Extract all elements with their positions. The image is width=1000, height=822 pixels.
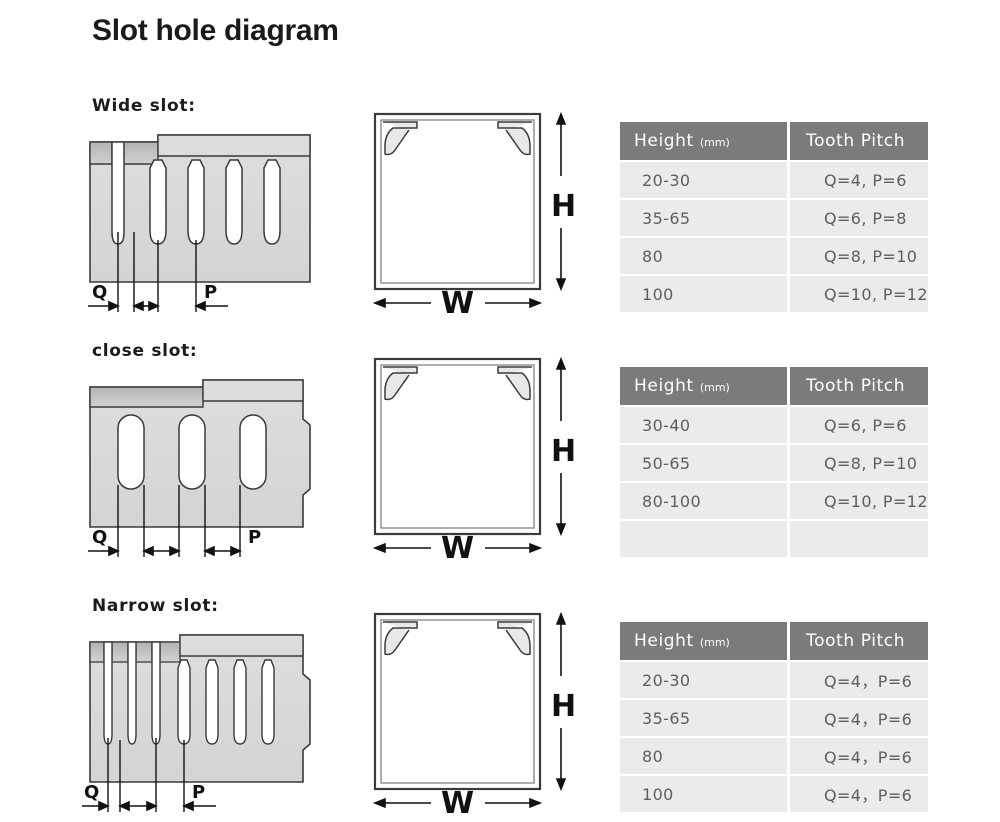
- close-slot-p-label: P: [248, 527, 261, 548]
- cell-height: 30-40: [620, 407, 790, 443]
- header-tooth-pitch: Tooth Pitch: [790, 622, 928, 660]
- cell-height: 100: [620, 776, 790, 812]
- cell-pitch: Q=4，P=6: [790, 662, 928, 698]
- narrow-slot-cross-section: H W: [365, 604, 580, 814]
- wide-slot-cross-section: H W: [365, 104, 580, 314]
- wide-slot-p-label: P: [204, 282, 217, 303]
- cell-height: 80-100: [620, 483, 790, 519]
- page-title: Slot hole diagram: [92, 14, 339, 48]
- table-row: 50-65 Q=8, P=10: [620, 445, 928, 481]
- height-label: H: [551, 434, 576, 469]
- cell-pitch: Q=10, P=12: [790, 276, 928, 312]
- width-label: W: [441, 786, 474, 814]
- wide-slot-q-label: Q: [92, 282, 107, 303]
- close-slot-q-label: Q: [92, 527, 107, 548]
- header-height-unit: (mm): [700, 636, 730, 649]
- section-label-wide: Wide slot:: [92, 96, 196, 116]
- cell-height: 100: [620, 276, 790, 312]
- spec-table-wide: Height (mm) Tooth Pitch 20-30 Q=4, P=6 3…: [620, 120, 928, 314]
- cell-pitch: [790, 521, 928, 557]
- table-row: 100 Q=10, P=12: [620, 276, 928, 312]
- table-row-empty: [620, 521, 928, 557]
- header-height: Height (mm): [620, 367, 790, 405]
- header-height-unit: (mm): [700, 136, 730, 149]
- header-height-unit: (mm): [700, 381, 730, 394]
- close-slot-drawing: Q P: [78, 367, 323, 567]
- header-height: Height (mm): [620, 622, 790, 660]
- narrow-slot-body: [90, 635, 310, 782]
- narrow-slot-p-label: P: [192, 782, 205, 803]
- narrow-slot-drawing: Q P: [78, 622, 323, 822]
- cell-pitch: Q=4，P=6: [790, 738, 928, 774]
- cell-pitch: Q=6, P=8: [790, 200, 928, 236]
- height-label: H: [551, 689, 576, 724]
- table-row: 20-30 Q=4，P=6: [620, 662, 928, 698]
- cell-height: 35-65: [620, 200, 790, 236]
- table-header-row: Height (mm) Tooth Pitch: [620, 622, 928, 660]
- table-row: 35-65 Q=4，P=6: [620, 700, 928, 736]
- cell-height: 80: [620, 738, 790, 774]
- spec-table-narrow: Height (mm) Tooth Pitch 20-30 Q=4，P=6 35…: [620, 620, 928, 814]
- table-row: 20-30 Q=4, P=6: [620, 162, 928, 198]
- header-height: Height (mm): [620, 122, 790, 160]
- close-slot-holes: [118, 415, 266, 489]
- narrow-slot-openings: [104, 642, 160, 744]
- cell-pitch: Q=10, P=12: [790, 483, 928, 519]
- header-tooth-pitch: Tooth Pitch: [790, 122, 928, 160]
- cell-pitch: Q=4，P=6: [790, 776, 928, 812]
- table-row: 30-40 Q=6, P=6: [620, 407, 928, 443]
- close-slot-cross-section: H W: [365, 349, 580, 559]
- header-tooth-pitch: Tooth Pitch: [790, 367, 928, 405]
- cell-height: 20-30: [620, 162, 790, 198]
- close-slot-dimension-arrows: [88, 547, 240, 555]
- narrow-slot-q-label: Q: [84, 782, 99, 803]
- narrow-slot-dimension-arrows: [82, 802, 216, 810]
- cell-pitch: Q=4，P=6: [790, 700, 928, 736]
- section-label-close: close slot:: [92, 341, 197, 361]
- width-label: W: [441, 286, 474, 314]
- width-label: W: [441, 531, 474, 559]
- cell-pitch: Q=4, P=6: [790, 162, 928, 198]
- table-header-row: Height (mm) Tooth Pitch: [620, 122, 928, 160]
- cell-height: 80: [620, 238, 790, 274]
- cell-height: 20-30: [620, 662, 790, 698]
- section-label-narrow: Narrow slot:: [92, 596, 219, 616]
- table-row: 80 Q=4，P=6: [620, 738, 928, 774]
- table-header-row: Height (mm) Tooth Pitch: [620, 367, 928, 405]
- cell-height: [620, 521, 790, 557]
- cell-pitch: Q=8, P=10: [790, 445, 928, 481]
- table-row: 80-100 Q=10, P=12: [620, 483, 928, 519]
- cell-pitch: Q=6, P=6: [790, 407, 928, 443]
- cell-height: 50-65: [620, 445, 790, 481]
- table-row: 100 Q=4，P=6: [620, 776, 928, 812]
- height-label: H: [551, 189, 576, 224]
- spec-table-close: Height (mm) Tooth Pitch 30-40 Q=6, P=6 5…: [620, 365, 928, 559]
- wide-slot-drawing: Q P: [78, 122, 323, 322]
- table-row: 80 Q=8, P=10: [620, 238, 928, 274]
- table-row: 35-65 Q=6, P=8: [620, 200, 928, 236]
- cell-pitch: Q=8, P=10: [790, 238, 928, 274]
- wide-slot-openings: [112, 142, 124, 244]
- cell-height: 35-65: [620, 700, 790, 736]
